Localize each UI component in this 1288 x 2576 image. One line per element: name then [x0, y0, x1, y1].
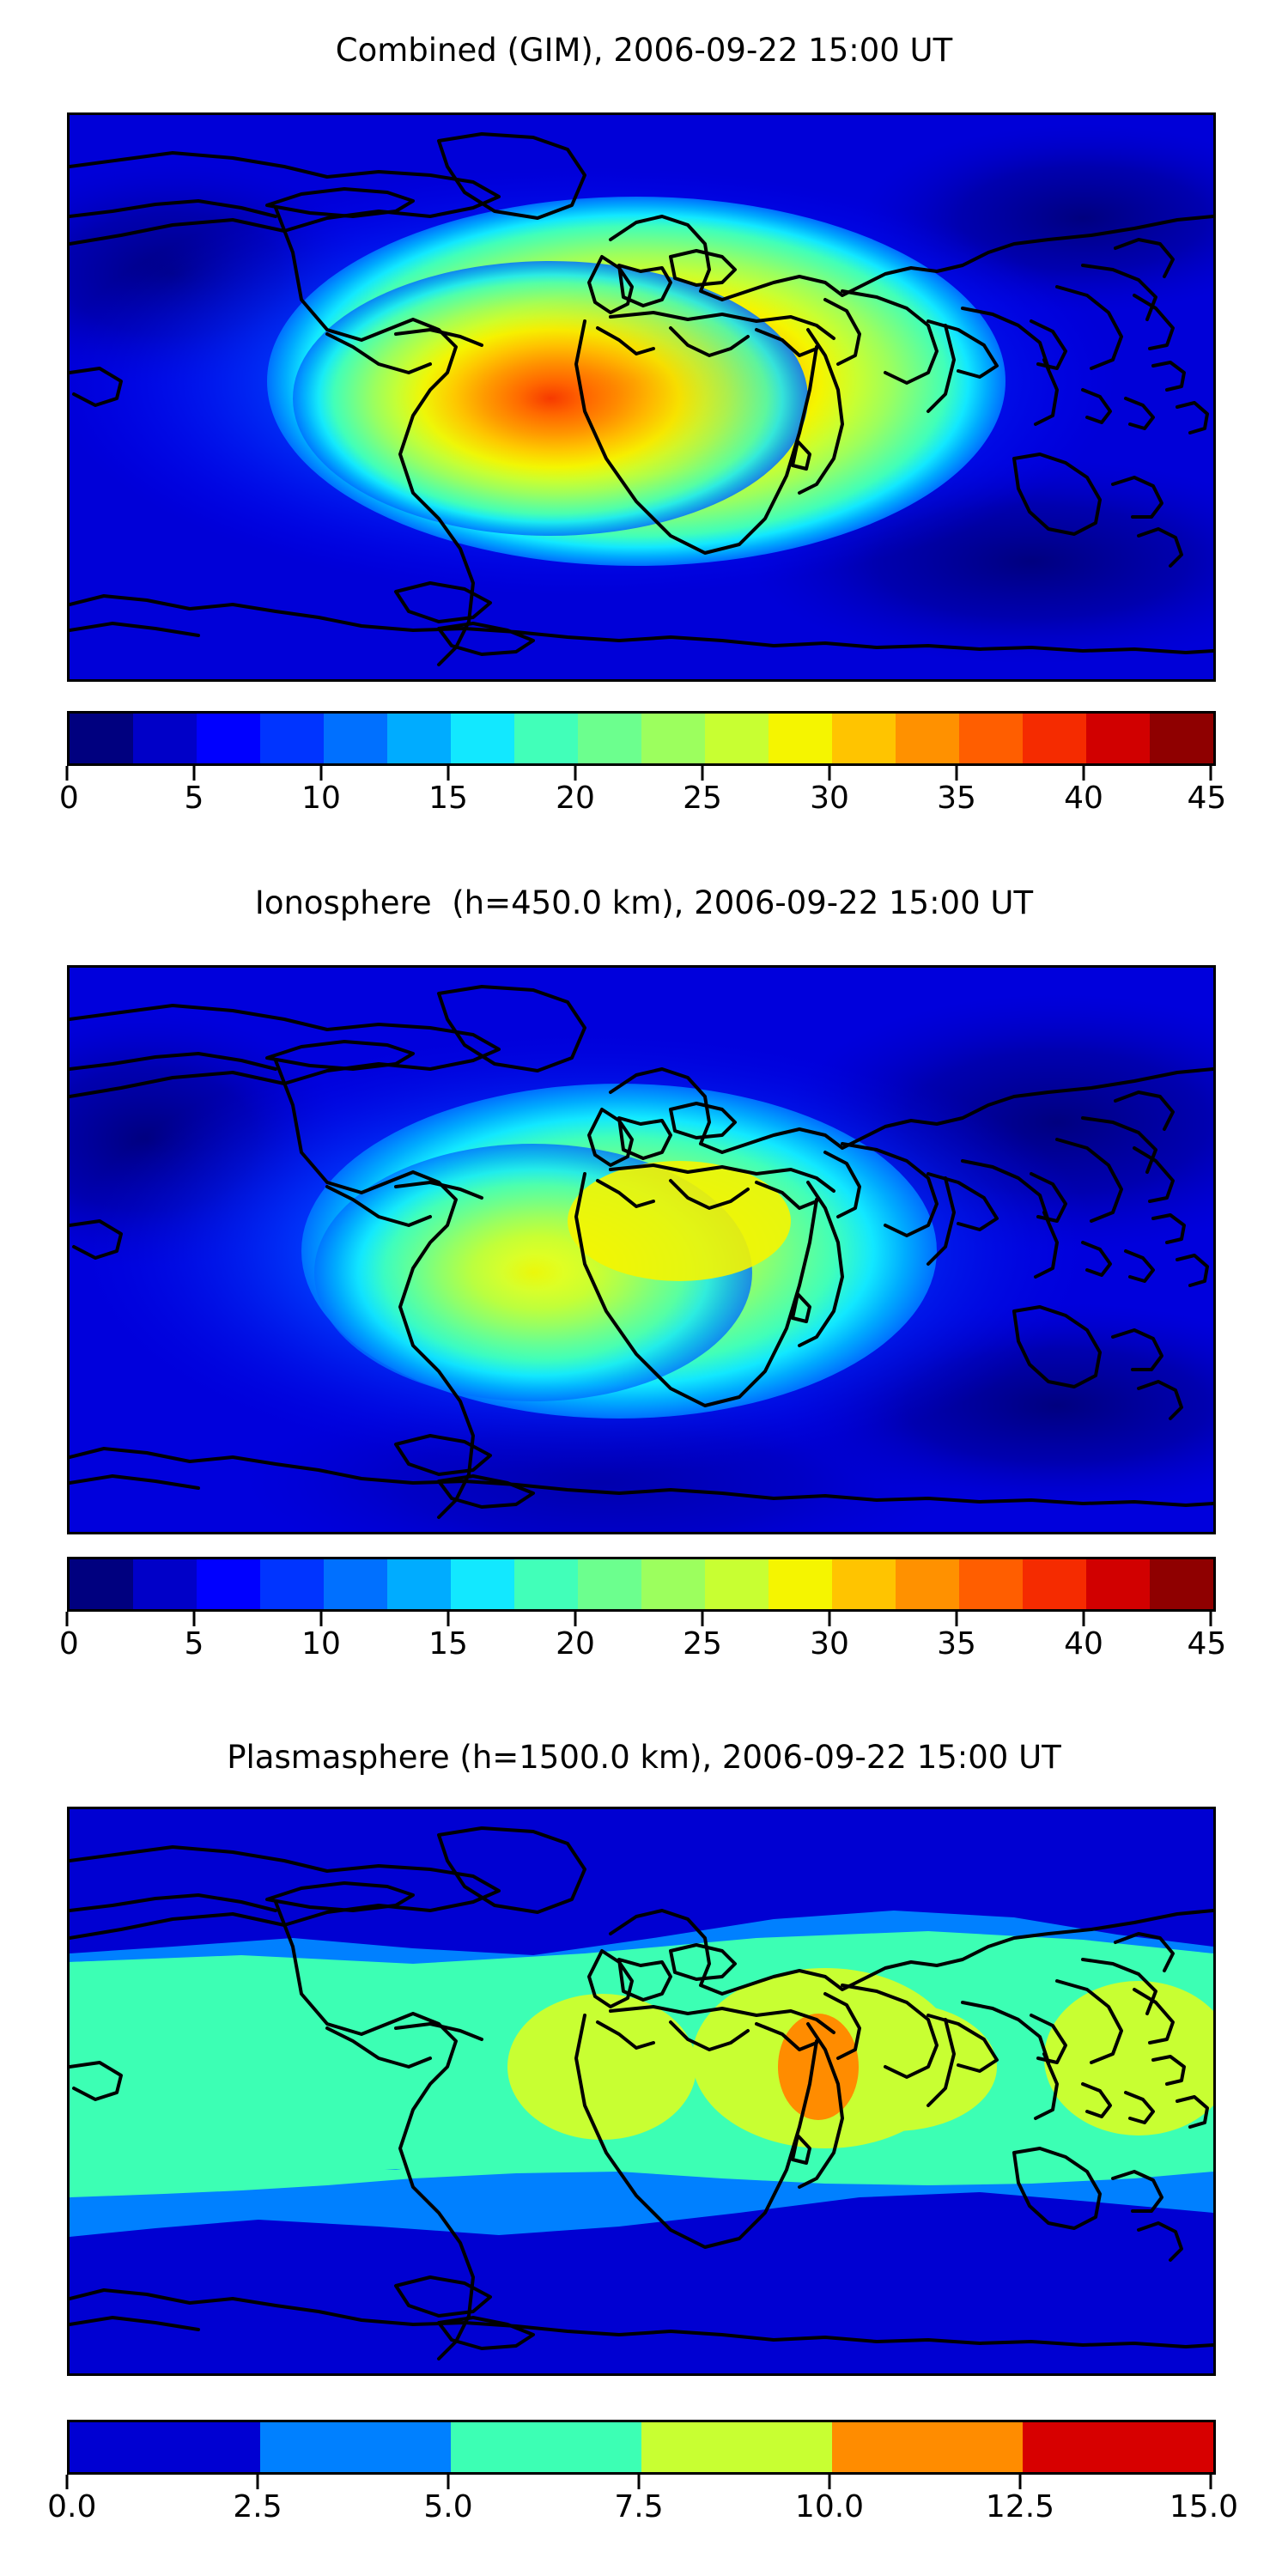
- panel-title-plasmasphere: Plasmasphere (h=1500.0 km), 2006-09-22 1…: [0, 1741, 1288, 1773]
- colorbar-tick: [320, 1612, 323, 1626]
- map-combined-canvas: [70, 115, 1213, 679]
- colorbar-band: [133, 1559, 197, 1609]
- colorbar-tick-label: 35: [937, 1629, 976, 1660]
- map-ionosphere-canvas: [70, 968, 1213, 1532]
- colorbar-tick-label: 30: [810, 783, 849, 814]
- colorbar-band: [260, 2422, 451, 2472]
- colorbar-band: [832, 2422, 1023, 2472]
- colorbar-plasmasphere-labels: 0.02.55.07.510.012.515.0: [64, 2492, 1213, 2531]
- colorbar-band: [705, 714, 769, 763]
- colorbar-band: [959, 714, 1023, 763]
- colorbar-tick: [66, 1612, 69, 1626]
- colorbar-band: [324, 714, 387, 763]
- colorbar-band: [387, 1559, 451, 1609]
- colorbar-tick: [574, 766, 577, 781]
- colorbar-tick: [257, 2475, 259, 2489]
- colorbar-tick: [447, 2475, 450, 2489]
- tec-figure: Combined (GIM), 2006-09-22 15:00 UT: [0, 0, 1288, 2576]
- colorbar-band: [641, 2422, 832, 2472]
- colorbar-band: [769, 1559, 832, 1609]
- colorbar-band: [769, 714, 832, 763]
- colorbar-tick-label: 35: [937, 783, 976, 814]
- colorbar-tick: [829, 1612, 831, 1626]
- colorbar-tick: [638, 2475, 641, 2489]
- panel-title-ionosphere: Ionosphere (h=450.0 km), 2006-09-22 15:0…: [0, 887, 1288, 919]
- colorbar-band: [451, 2422, 641, 2472]
- colorbar-band: [133, 714, 197, 763]
- colorbar-tick: [702, 766, 704, 781]
- colorbar-tick-label: 25: [683, 1629, 722, 1660]
- colorbar-tick: [66, 2475, 69, 2489]
- colorbar-plasmasphere-bands: [67, 2420, 1216, 2475]
- panel-title-combined: Combined (GIM), 2006-09-22 15:00 UT: [0, 34, 1288, 66]
- map-ionosphere: [67, 965, 1216, 1534]
- colorbar-ionosphere-labels: 051015202530354045: [64, 1629, 1213, 1668]
- colorbar-band: [514, 1559, 578, 1609]
- colorbar-band: [959, 1559, 1023, 1609]
- colorbar-band: [70, 1559, 133, 1609]
- colorbar-tick: [956, 766, 958, 781]
- colorbar-band: [578, 1559, 641, 1609]
- colorbar-tick-label: 2.5: [233, 2492, 282, 2523]
- colorbar-tick-label: 0.0: [47, 2492, 96, 2523]
- map-plasmasphere-canvas: [70, 1809, 1213, 2373]
- colorbar-plasmasphere: 0.02.55.07.510.012.515.0: [67, 2420, 1211, 2531]
- map-combined-svg: [70, 115, 1213, 679]
- colorbar-band: [387, 714, 451, 763]
- colorbar-tick: [829, 766, 831, 781]
- colorbar-band: [1150, 1559, 1213, 1609]
- colorbar-tick-label: 7.5: [614, 2492, 663, 2523]
- colorbar-band: [896, 714, 959, 763]
- colorbar-tick: [956, 1612, 958, 1626]
- colorbar-combined-bands: [67, 711, 1216, 766]
- colorbar-tick-label: 40: [1064, 783, 1103, 814]
- colorbar-ionosphere: 051015202530354045: [67, 1557, 1211, 1668]
- colorbar-band: [1150, 714, 1213, 763]
- colorbar-tick: [1210, 2475, 1212, 2489]
- colorbar-tick-label: 15.0: [1170, 2492, 1238, 2523]
- colorbar-band: [832, 714, 896, 763]
- colorbar-tick-label: 10.0: [795, 2492, 864, 2523]
- map-combined: [67, 112, 1216, 682]
- colorbar-ionosphere-bands: [67, 1557, 1216, 1612]
- colorbar-band: [451, 1559, 514, 1609]
- colorbar-band: [641, 714, 705, 763]
- colorbar-tick: [320, 766, 323, 781]
- colorbar-tick: [193, 1612, 196, 1626]
- colorbar-tick: [574, 1612, 577, 1626]
- colorbar-band: [324, 1559, 387, 1609]
- colorbar-band: [1023, 2422, 1213, 2472]
- colorbar-band: [451, 714, 514, 763]
- colorbar-tick-label: 20: [556, 1629, 595, 1660]
- colorbar-band: [1023, 714, 1086, 763]
- colorbar-band: [70, 714, 133, 763]
- colorbar-band: [832, 1559, 896, 1609]
- colorbar-tick: [1210, 1612, 1212, 1626]
- colorbar-tick: [1210, 766, 1212, 781]
- colorbar-band: [197, 1559, 260, 1609]
- colorbar-combined-ticks: [64, 766, 1213, 783]
- colorbar-tick-label: 10: [301, 783, 341, 814]
- colorbar-tick-label: 5: [185, 783, 204, 814]
- colorbar-band: [260, 714, 324, 763]
- colorbar-tick: [447, 766, 450, 781]
- colorbar-band: [896, 1559, 959, 1609]
- colorbar-tick-label: 0: [59, 1629, 79, 1660]
- colorbar-band: [514, 714, 578, 763]
- colorbar-tick: [447, 1612, 450, 1626]
- colorbar-ionosphere-ticks: [64, 1612, 1213, 1629]
- colorbar-band: [1086, 1559, 1150, 1609]
- colorbar-band: [578, 714, 641, 763]
- panel-plasmasphere: Plasmasphere (h=1500.0 km), 2006-09-22 1…: [0, 1705, 1288, 2576]
- colorbar-tick-label: 10: [301, 1629, 341, 1660]
- colorbar-band: [1023, 1559, 1086, 1609]
- colorbar-tick: [193, 766, 196, 781]
- panel-combined: Combined (GIM), 2006-09-22 15:00 UT: [0, 0, 1288, 850]
- colorbar-tick: [66, 766, 69, 781]
- map-plasmasphere-svg: [70, 1809, 1213, 2373]
- colorbar-tick-label: 5: [185, 1629, 204, 1660]
- colorbar-combined-labels: 051015202530354045: [64, 783, 1213, 823]
- colorbar-tick-label: 20: [556, 783, 595, 814]
- colorbar-tick: [1019, 2475, 1022, 2489]
- map-plasmasphere: [67, 1807, 1216, 2376]
- colorbar-tick-label: 15: [428, 1629, 468, 1660]
- colorbar-tick-label: 45: [1188, 1629, 1227, 1660]
- colorbar-tick-label: 5.0: [423, 2492, 472, 2523]
- colorbar-band: [705, 1559, 769, 1609]
- colorbar-combined: 051015202530354045: [67, 711, 1211, 823]
- colorbar-band: [70, 2422, 260, 2472]
- colorbar-band: [197, 714, 260, 763]
- colorbar-band: [1086, 714, 1150, 763]
- colorbar-tick-label: 12.5: [986, 2492, 1054, 2523]
- colorbar-tick-label: 15: [428, 783, 468, 814]
- colorbar-tick: [702, 1612, 704, 1626]
- colorbar-tick: [1083, 1612, 1085, 1626]
- colorbar-tick-label: 40: [1064, 1629, 1103, 1660]
- colorbar-tick-label: 45: [1188, 783, 1227, 814]
- colorbar-band: [641, 1559, 705, 1609]
- colorbar-tick-label: 25: [683, 783, 722, 814]
- map-ionosphere-svg: [70, 968, 1213, 1532]
- colorbar-tick: [829, 2475, 831, 2489]
- panel-ionosphere: Ionosphere (h=450.0 km), 2006-09-22 15:0…: [0, 853, 1288, 1703]
- colorbar-tick-label: 0: [59, 783, 79, 814]
- colorbar-band: [260, 1559, 324, 1609]
- colorbar-tick-label: 30: [810, 1629, 849, 1660]
- colorbar-tick: [1083, 766, 1085, 781]
